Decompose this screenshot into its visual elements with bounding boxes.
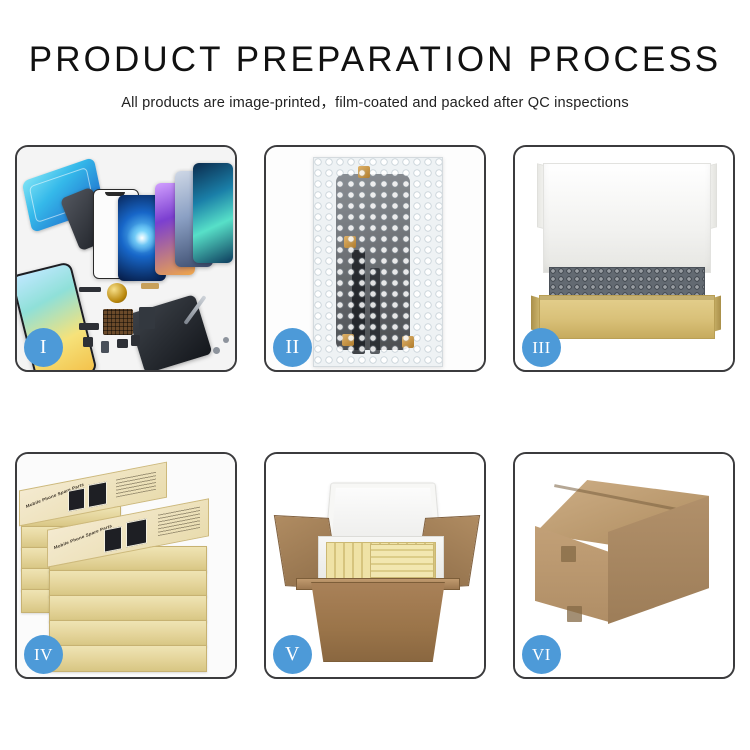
carton-tab-lower — [567, 606, 582, 622]
screw-2-icon — [223, 337, 229, 343]
bubble-wrap-bag-icon — [313, 157, 443, 367]
flex-cable-icon — [79, 287, 101, 292]
phone-teal-icon — [193, 163, 233, 263]
corrugated-carton-icon — [302, 582, 454, 662]
box-spec-lines-upper — [116, 470, 156, 498]
adhesive-tape-mid-icon — [344, 236, 356, 248]
screw-icon — [213, 347, 220, 354]
chip-grid-icon — [103, 309, 133, 335]
process-step-panel-2[interactable]: II — [264, 145, 486, 372]
page-subtitle: All products are image-printed，film-coat… — [0, 77, 750, 112]
small-part-2-icon — [83, 337, 93, 347]
page-title: PRODUCT PREPARATION PROCESS — [0, 0, 750, 77]
step-badge-1: I — [24, 328, 63, 367]
small-part-4-icon — [117, 339, 128, 348]
process-step-panel-1[interactable]: I — [15, 145, 237, 372]
camera-module-icon — [107, 283, 127, 303]
process-step-panel-4[interactable]: Mobile Phone Spare Parts Mobile Phone Sp… — [15, 452, 237, 679]
small-part-1-icon — [79, 323, 99, 330]
screen-flex-cable-2-icon — [370, 268, 380, 354]
kraft-box-r3 — [49, 595, 207, 622]
step-badge-3: III — [522, 328, 561, 367]
step-badge-2: II — [273, 328, 312, 367]
process-step-panel-3[interactable]: III — [513, 145, 735, 372]
yellow-kraft-base-icon — [539, 295, 715, 339]
step-badge-5: V — [273, 635, 312, 674]
kraft-box-r4 — [49, 620, 207, 647]
box-window-upper-1 — [68, 488, 85, 512]
small-part-3-icon — [101, 341, 109, 353]
step-badge-4: IV — [24, 635, 63, 674]
small-part-5-icon — [131, 335, 140, 346]
box-window-front-2 — [126, 518, 147, 547]
process-step-grid: I II III — [15, 145, 735, 679]
packed-kraft-boxes-2-icon — [370, 544, 434, 578]
kraft-box-r2 — [49, 570, 207, 597]
process-step-panel-6[interactable]: VI — [513, 452, 735, 679]
adhesive-tape-bottom-right-icon — [402, 336, 414, 348]
small-part-6-icon — [139, 307, 155, 329]
box-spec-lines-front — [158, 506, 200, 536]
gold-connector-icon — [141, 283, 159, 289]
adhesive-tape-top-icon — [358, 166, 370, 178]
adhesive-tape-bottom-left-icon — [342, 334, 354, 346]
page-header: PRODUCT PREPARATION PROCESS All products… — [0, 0, 750, 112]
box-window-upper-2 — [88, 481, 107, 508]
box-window-front-1 — [104, 526, 122, 552]
kraft-box-r5 — [49, 645, 207, 672]
step-badge-6: VI — [522, 635, 561, 674]
carton-tab-upper — [561, 546, 576, 562]
white-box-lid-icon — [543, 163, 711, 273]
process-step-panel-5[interactable]: V — [264, 452, 486, 679]
